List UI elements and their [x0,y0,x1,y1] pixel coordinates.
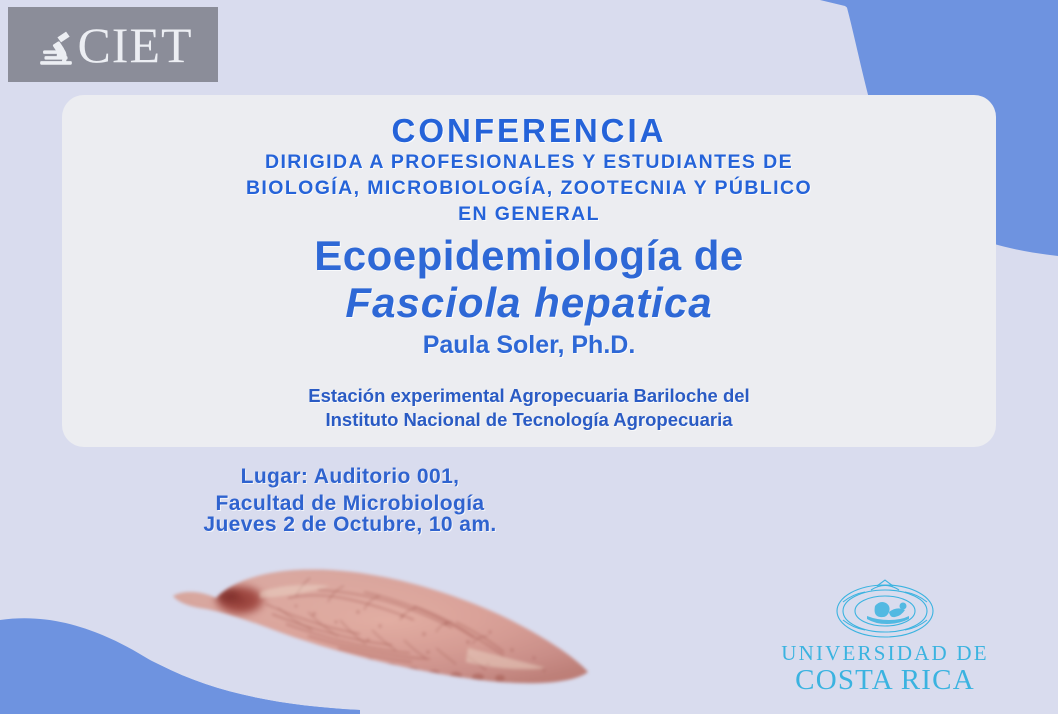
audience-line-3: EN GENERAL [62,202,996,228]
ucr-logo-line-1: UNIVERSIDAD DE [735,643,1035,664]
ciet-wordmark: CIET [77,20,192,70]
affiliation-line-1: Estación experimental Agropecuaria Baril… [62,384,996,408]
conferencia-kicker: CONFERENCIA [62,112,996,150]
talk-title-species: Fasciola hepatica [62,279,996,326]
speaker-affiliation: Estación experimental Agropecuaria Baril… [62,384,996,432]
affiliation-line-2: Instituto Nacional de Tecnología Agropec… [62,408,996,432]
venue-info: Lugar: Auditorio 001, Facultad de Microb… [90,463,610,518]
specimen-body [173,569,588,683]
talk-title: Ecoepidemiología de Fasciola hepatica [62,232,996,326]
fasciola-hepatica-specimen [168,552,598,702]
audience-line-1: DIRIGIDA A PROFESIONALES Y ESTUDIANTES D… [62,150,996,176]
ucr-seal-icon [831,578,939,640]
speaker-name: Paula Soler, Ph.D. [62,331,996,360]
conference-poster: CIET CONFERENCIA DIRIGIDA A PROFESIONALE… [0,0,1058,714]
audience-description: DIRIGIDA A PROFESIONALES Y ESTUDIANTES D… [62,150,996,228]
talk-title-line-1: Ecoepidemiología de [314,232,744,279]
event-datetime: Jueves 2 de Octubre, 10 am. [90,513,610,537]
ucr-logo-line-2: COSTA RICA [735,666,1035,695]
ciet-logo: CIET [8,7,218,82]
ucr-logo: UNIVERSIDAD DE COSTA RICA [735,578,1035,688]
audience-line-2: BIOLOGÍA, MICROBIOLOGÍA, ZOOTECNIA Y PÚB… [62,176,996,202]
microscope-icon [33,23,79,69]
venue-line-1: Lugar: Auditorio 001, [90,463,610,490]
